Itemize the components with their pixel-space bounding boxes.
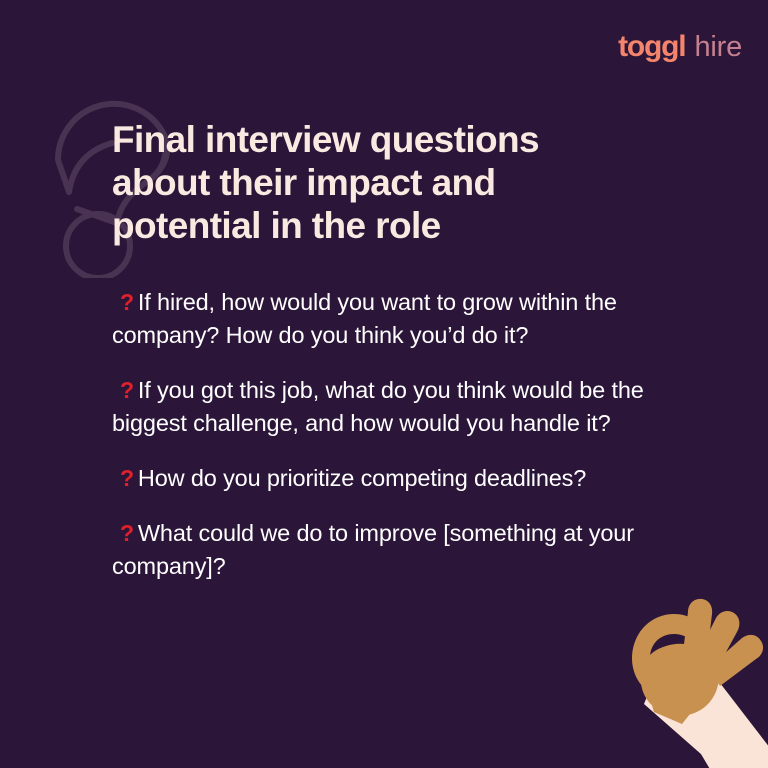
question-text: What could we do to improve [something a… <box>112 520 634 579</box>
logo-toggl-text: toggl <box>618 32 685 62</box>
list-item: ?If hired, how would you want to grow wi… <box>112 286 672 352</box>
question-text: If you got this job, what do you think w… <box>112 377 644 436</box>
question-mark-icon: ? <box>120 520 138 546</box>
question-text: If hired, how would you want to grow wit… <box>112 289 617 348</box>
page-title-line-2: about their impact and <box>112 161 632 204</box>
page-title-line-1: Final interview questions <box>112 118 632 161</box>
page-title-line-3: potential in the role <box>112 204 632 247</box>
list-item: ?What could we do to improve [something … <box>112 517 672 583</box>
list-item: ?If you got this job, what do you think … <box>112 374 672 440</box>
question-mark-icon: ? <box>120 289 138 315</box>
toggl-hire-logo[interactable]: toggl hire <box>618 32 742 62</box>
slide-card: toggl hire Final interview questions abo… <box>0 0 768 768</box>
logo-hire-text: hire <box>694 33 742 62</box>
question-list: ?If hired, how would you want to grow wi… <box>112 286 672 583</box>
ok-hand-icon <box>618 596 768 768</box>
page-title: Final interview questions about their im… <box>112 118 632 247</box>
question-mark-icon: ? <box>120 377 138 403</box>
question-mark-icon: ? <box>120 465 138 491</box>
list-item: ?How do you prioritize competing deadlin… <box>112 462 672 495</box>
question-text: How do you prioritize competing deadline… <box>138 465 586 491</box>
